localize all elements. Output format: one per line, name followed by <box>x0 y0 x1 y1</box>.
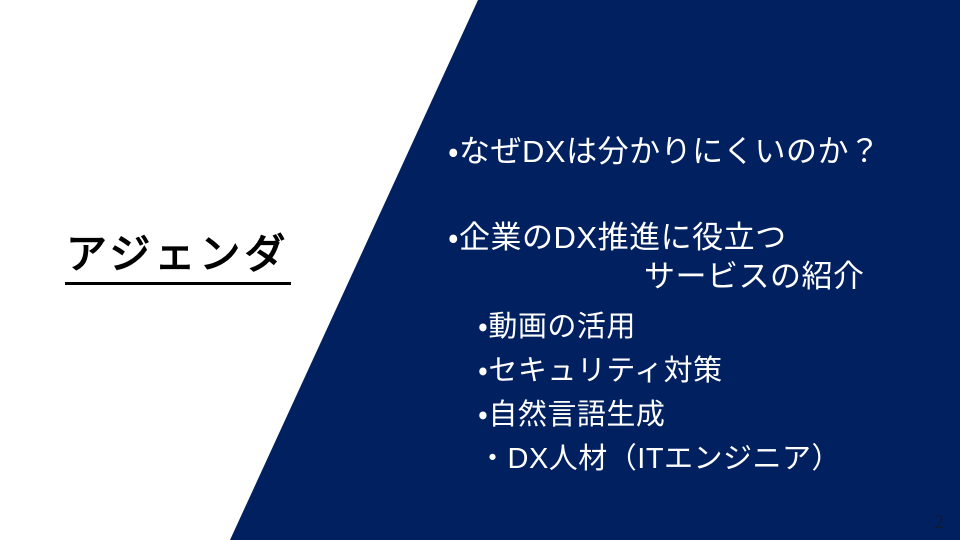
page-title: アジェンダ <box>62 232 295 282</box>
presentation-slide: アジェンダ ・なぜDXは分かりにくいのか？ ・企業のDX推進に役立つ サービスの… <box>0 0 960 540</box>
agenda-sub-item-dx-talent: ・DX人材（ITエンジニア） <box>478 437 928 481</box>
page-number: 2 <box>934 511 944 534</box>
agenda-list: ・なぜDXは分かりにくいのか？ ・企業のDX推進に役立つ サービスの紹介 ・動画… <box>448 132 928 481</box>
title-block: アジェンダ <box>62 232 295 285</box>
agenda-sub-item-nlg: ・自然言語生成 <box>478 393 928 437</box>
title-underline <box>65 282 291 285</box>
agenda-item-services-line2: サービスの紹介 <box>448 257 928 297</box>
agenda-sub-item-security: ・セキュリティ対策 <box>478 349 928 393</box>
agenda-sub-list: ・動画の活用 ・セキュリティ対策 ・自然言語生成 ・DX人材（ITエンジニア） <box>448 305 928 481</box>
agenda-sub-item-video: ・動画の活用 <box>478 305 928 349</box>
agenda-item-why-dx: ・なぜDXは分かりにくいのか？ <box>448 132 928 172</box>
agenda-item-services-line1: ・企業のDX推進に役立つ <box>448 218 928 258</box>
